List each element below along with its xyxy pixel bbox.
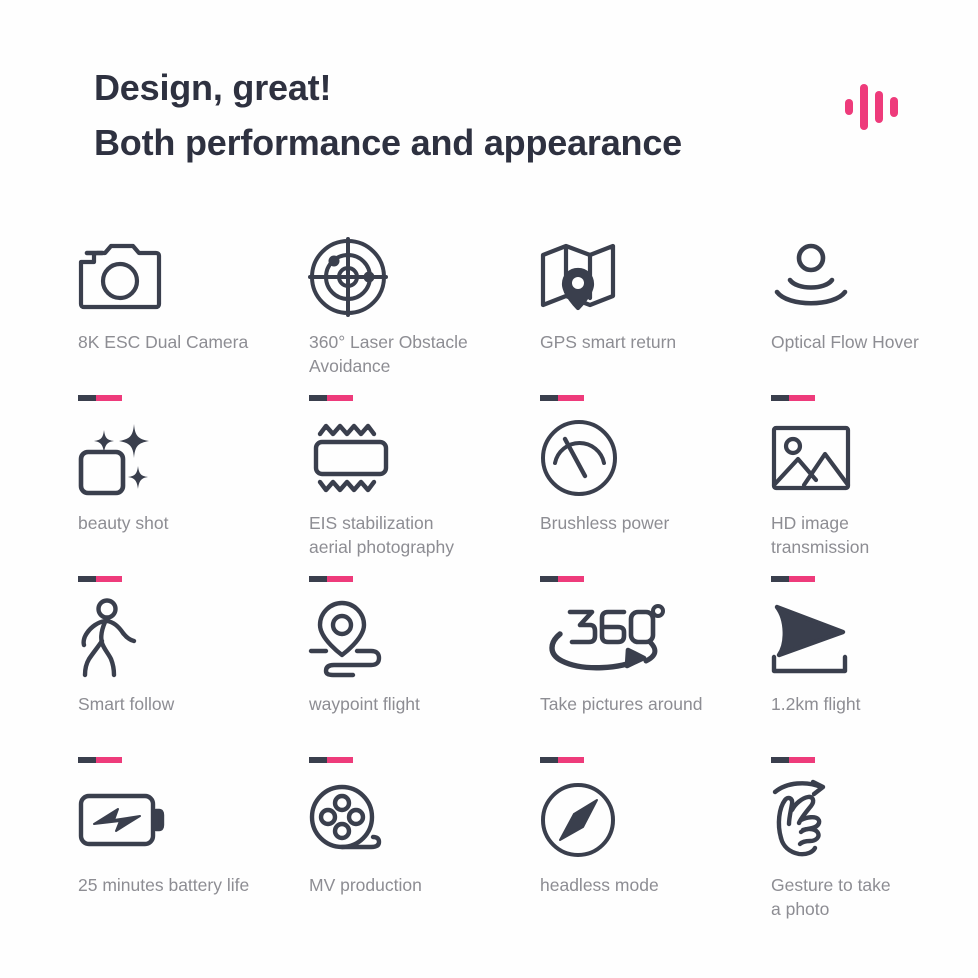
cell-divider (771, 757, 815, 763)
feature-cell-hd-image[interactable]: HD image transmission (771, 417, 978, 598)
cell-divider (540, 395, 584, 401)
compass-icon (540, 779, 771, 861)
feature-cell-beauty-shot[interactable]: beauty shot (78, 417, 309, 598)
three-sixty-arrow-icon (540, 598, 771, 680)
feature-cell-headless-mode[interactable]: headless mode (540, 779, 771, 960)
cell-divider (309, 576, 353, 582)
wave-bar-2 (860, 84, 868, 130)
feature-cell-mv-production[interactable]: MV production (309, 779, 540, 960)
headline-line-2: Both performance and appearance (94, 115, 682, 170)
feature-label: waypoint flight (309, 693, 499, 717)
feature-cell-gesture-photo[interactable]: Gesture to take a photo (771, 779, 978, 960)
feature-page: Design, great! Both performance and appe… (0, 0, 978, 978)
camera-icon (78, 236, 309, 318)
feature-label: Optical Flow Hover (771, 331, 961, 355)
feature-cell-optical-flow[interactable]: Optical Flow Hover (771, 236, 978, 417)
feature-label: 25 minutes battery life (78, 874, 268, 898)
sparkle-square-icon (78, 417, 309, 499)
sound-wave-logo (845, 84, 898, 130)
cell-divider (309, 757, 353, 763)
page-header: Design, great! Both performance and appe… (0, 0, 978, 170)
cell-divider (78, 395, 122, 401)
wave-bar-4 (890, 97, 898, 117)
feature-label: GPS smart return (540, 331, 730, 355)
feature-label: beauty shot (78, 512, 268, 536)
feature-label: 360° Laser Obstacle Avoidance (309, 331, 499, 378)
feature-cell-brushless-power[interactable]: Brushless power (540, 417, 771, 598)
feature-cell-smart-follow[interactable]: Smart follow (78, 598, 309, 779)
headline-line-1: Design, great! (94, 60, 682, 115)
feature-cell-battery-life[interactable]: 25 minutes battery life (78, 779, 309, 960)
walking-person-icon (78, 598, 309, 680)
feature-cell-laser-obstacle[interactable]: 360° Laser Obstacle Avoidance (309, 236, 540, 417)
feature-cell-camera[interactable]: 8K ESC Dual Camera (78, 236, 309, 417)
radar-target-icon (309, 236, 540, 318)
arrow-distance-icon (771, 598, 978, 680)
feature-cell-take-pictures-around[interactable]: Take pictures around (540, 598, 771, 779)
image-mountain-icon (771, 417, 978, 499)
feature-label: HD image transmission (771, 512, 961, 559)
wave-bar-1 (845, 99, 853, 115)
feature-cell-waypoint-flight[interactable]: waypoint flight (309, 598, 540, 779)
feature-grid: 8K ESC Dual Camera 360° Laser Obstacle A… (78, 236, 978, 960)
cell-divider (540, 576, 584, 582)
feature-cell-flight-distance[interactable]: 1.2km flight (771, 598, 978, 779)
optical-flow-icon (771, 236, 978, 318)
waypoint-path-icon (309, 598, 540, 680)
feature-label: headless mode (540, 874, 730, 898)
feature-label: 8K ESC Dual Camera (78, 331, 268, 355)
feature-label: Smart follow (78, 693, 268, 717)
cell-divider (78, 757, 122, 763)
feature-label: 1.2km flight (771, 693, 961, 717)
film-reel-icon (309, 779, 540, 861)
wave-bar-3 (875, 91, 883, 123)
stabilization-icon (309, 417, 540, 499)
hand-gesture-icon (771, 779, 978, 861)
cell-divider (771, 576, 815, 582)
cell-divider (540, 757, 584, 763)
map-pin-icon (540, 236, 771, 318)
battery-bolt-icon (78, 779, 309, 861)
feature-label: EIS stabilization aerial photography (309, 512, 499, 559)
feature-label: Take pictures around (540, 693, 730, 717)
feature-cell-gps-return[interactable]: GPS smart return (540, 236, 771, 417)
cell-divider (78, 576, 122, 582)
gauge-icon (540, 417, 771, 499)
page-title: Design, great! Both performance and appe… (94, 60, 682, 170)
feature-label: Gesture to take a photo (771, 874, 961, 921)
cell-divider (309, 395, 353, 401)
cell-divider (771, 395, 815, 401)
feature-label: MV production (309, 874, 499, 898)
feature-cell-eis-stabilization[interactable]: EIS stabilization aerial photography (309, 417, 540, 598)
feature-label: Brushless power (540, 512, 730, 536)
